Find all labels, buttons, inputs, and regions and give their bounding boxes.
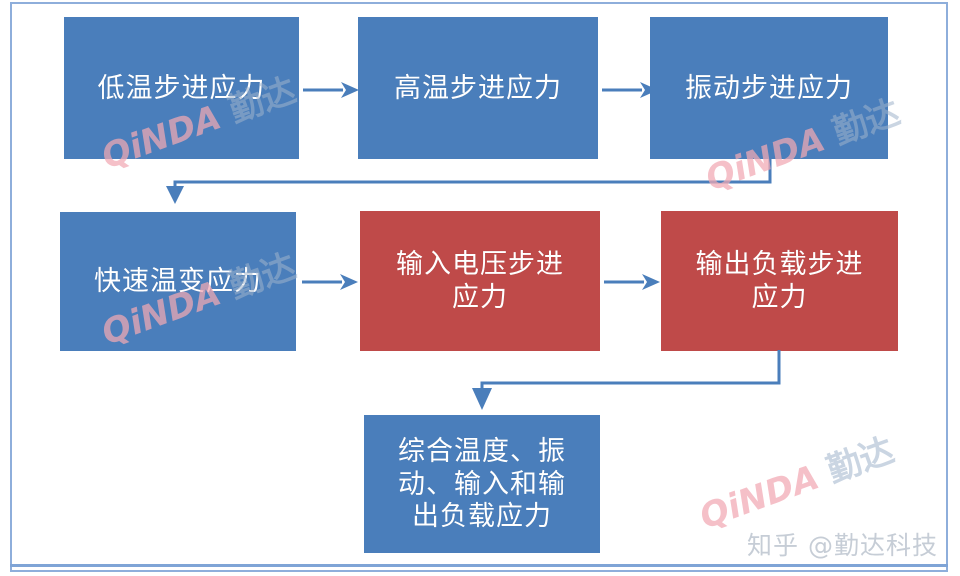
arrow-n1-to-n2 — [303, 80, 359, 100]
node-label: 输出负载步进应力 — [690, 248, 870, 314]
connector-n3-to-n4 — [160, 158, 790, 208]
node-rapid-temp-change-stress[interactable]: 快速温变应力 — [60, 212, 296, 351]
node-input-voltage-step-stress[interactable]: 输入电压步进应力 — [360, 211, 600, 351]
node-label: 高温步进应力 — [394, 72, 562, 105]
watermark-attribution: 知乎 @勤达科技 — [747, 526, 938, 562]
node-output-load-step-stress[interactable]: 输出负载步进应力 — [661, 211, 898, 351]
node-vibration-step-stress[interactable]: 振动步进应力 — [650, 17, 888, 159]
flowchart-canvas: 低温步进应力 高温步进应力 振动步进应力 快速温变应力 — [0, 0, 960, 576]
node-label: 输入电压步进应力 — [390, 248, 570, 314]
arrow-n5-to-n6 — [604, 272, 660, 292]
arrow-n4-to-n5 — [302, 272, 358, 292]
node-label: 综合温度、振动、输入和输出负载应力 — [387, 435, 577, 534]
node-low-temp-step-stress[interactable]: 低温步进应力 — [64, 17, 299, 159]
node-high-temp-step-stress[interactable]: 高温步进应力 — [358, 17, 598, 159]
slide-border-bottom — [10, 564, 948, 567]
node-label: 振动步进应力 — [685, 72, 853, 105]
connector-n6-to-n7 — [468, 350, 798, 416]
watermark-brand: QiNDA 勤达 — [692, 423, 900, 539]
node-combined-stress[interactable]: 综合温度、振动、输入和输出负载应力 — [364, 415, 600, 553]
watermark-brand-cn: 勤达 — [822, 430, 900, 491]
node-label: 低温步进应力 — [98, 72, 266, 105]
node-label: 快速温变应力 — [94, 265, 262, 298]
